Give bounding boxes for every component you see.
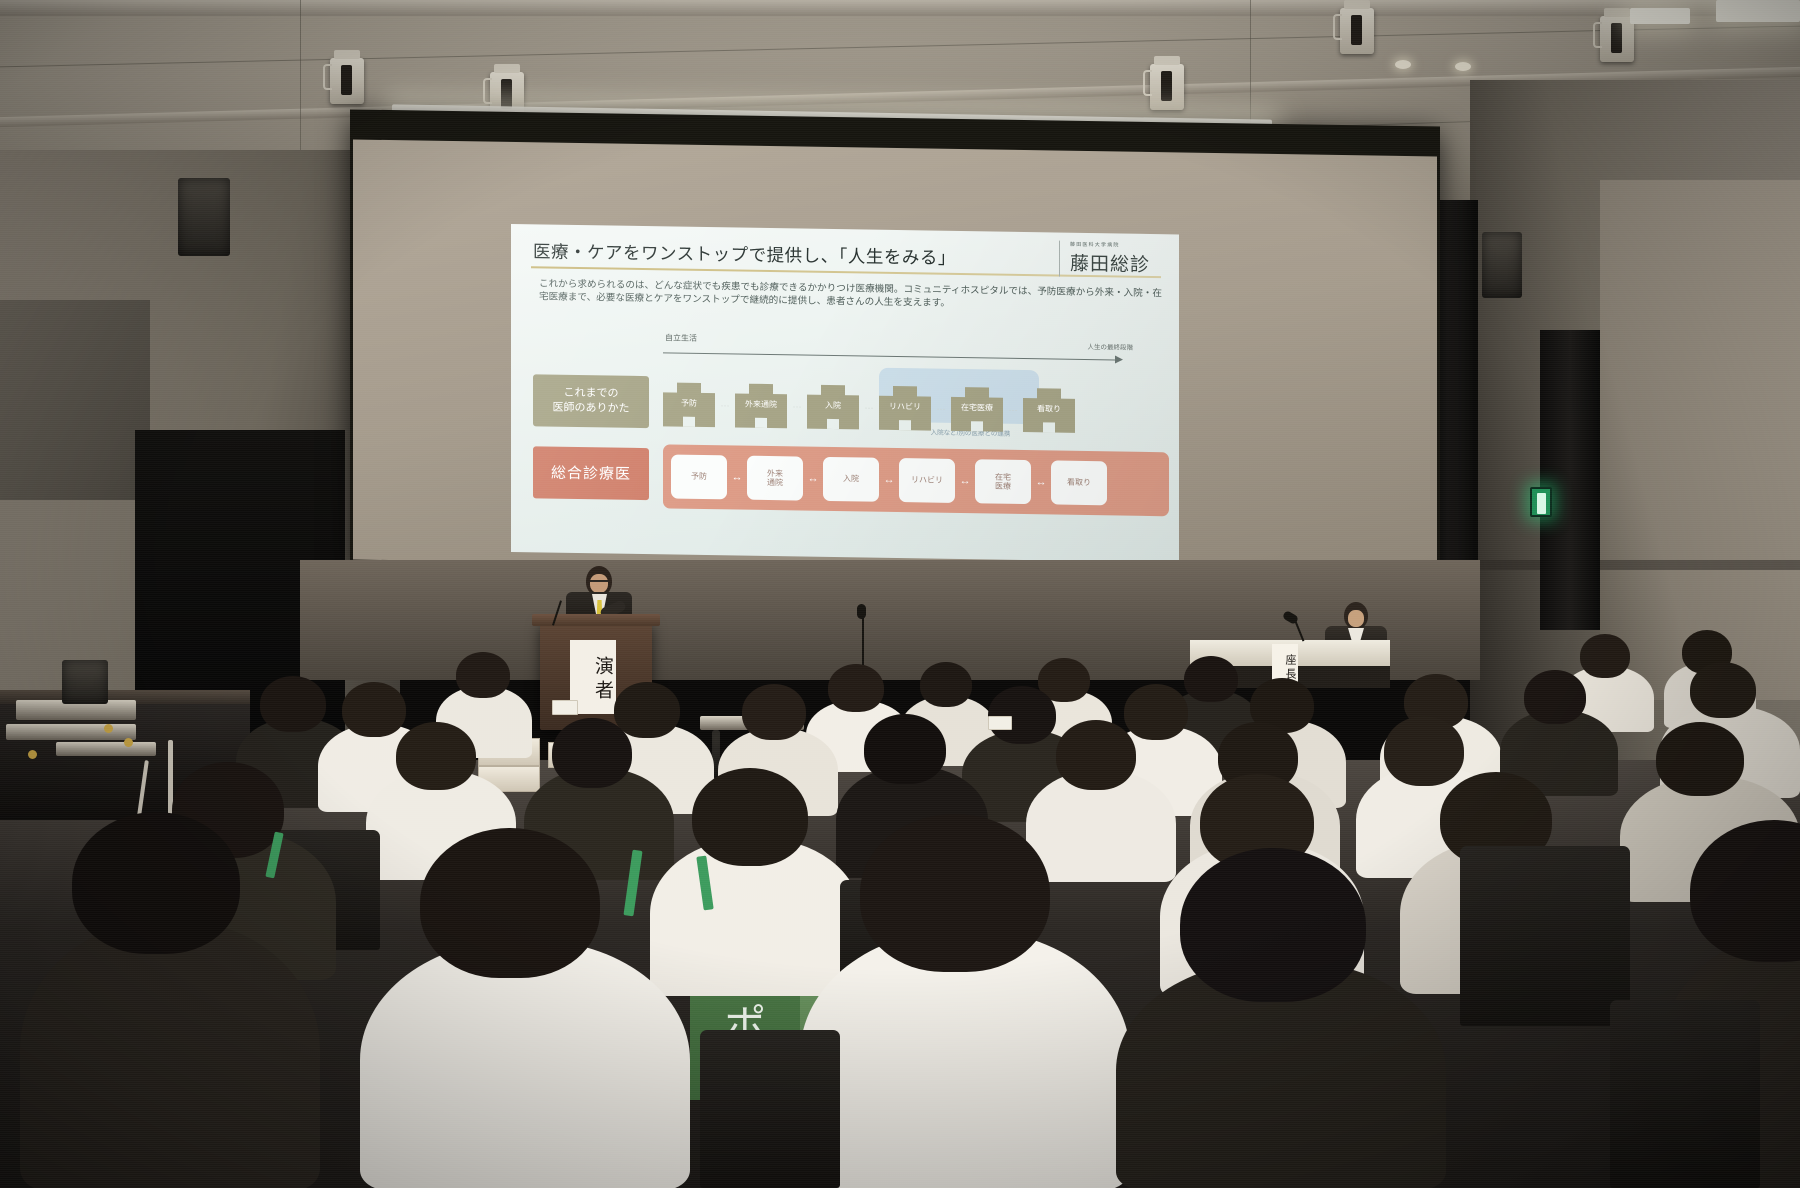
av-rack-unit bbox=[56, 742, 156, 756]
av-knob[interactable] bbox=[124, 738, 133, 747]
audience-head bbox=[1184, 656, 1238, 702]
audience-head bbox=[342, 682, 406, 737]
ceiling-light-panel bbox=[1630, 8, 1690, 24]
chair-back bbox=[700, 1030, 840, 1188]
emergency-exit-sign bbox=[1530, 487, 1552, 517]
audience-head bbox=[692, 768, 808, 866]
monitor-back bbox=[62, 660, 108, 704]
ceiling-light-panel bbox=[1716, 0, 1800, 22]
downlight bbox=[1455, 62, 1471, 71]
audience-head bbox=[456, 652, 510, 698]
presentation-slide: 医療・ケアをワンストップで提供し、「人生をみる」 藤田医科大学病院 藤田総診 こ… bbox=[511, 224, 1179, 562]
audience-head bbox=[1524, 670, 1586, 724]
audience-head bbox=[1580, 634, 1630, 678]
audience-head bbox=[1124, 684, 1188, 740]
conference-hall-photo: 医療・ケアをワンストップで提供し、「人生をみる」 藤田医科大学病院 藤田総診 こ… bbox=[0, 0, 1800, 1188]
name-badge bbox=[552, 700, 578, 715]
audience-head bbox=[828, 664, 884, 712]
speaker-face bbox=[590, 574, 608, 593]
chair-back bbox=[1610, 1000, 1760, 1188]
audience-head bbox=[72, 812, 240, 954]
ceiling-spotlight bbox=[1340, 8, 1374, 54]
ceiling-spotlight bbox=[330, 58, 364, 104]
audience-head bbox=[1180, 848, 1366, 1002]
ceiling-spotlight bbox=[1150, 64, 1184, 110]
audience-head bbox=[742, 684, 806, 740]
stage-label: 予防 bbox=[681, 399, 697, 408]
stage-label: 看取り bbox=[1037, 404, 1061, 413]
audience-head bbox=[552, 718, 632, 788]
wall-speaker bbox=[178, 178, 230, 256]
audience-head bbox=[920, 662, 972, 707]
glasses-icon bbox=[590, 580, 608, 583]
audience-head bbox=[864, 714, 946, 784]
audience-shoulders bbox=[20, 920, 320, 1188]
av-knob[interactable] bbox=[104, 724, 113, 733]
av-rack-unit bbox=[6, 724, 136, 740]
downlight bbox=[1395, 60, 1411, 69]
audience-head bbox=[260, 676, 326, 732]
audience-head bbox=[1656, 722, 1744, 796]
name-badge bbox=[988, 716, 1012, 730]
stage-label: 外来通院 bbox=[745, 400, 777, 410]
audience-head bbox=[614, 682, 680, 738]
left-wall-panel bbox=[0, 300, 150, 500]
audience-head bbox=[1384, 716, 1464, 786]
ceiling-spotlight bbox=[1600, 16, 1634, 62]
chair-back bbox=[1460, 846, 1630, 1026]
screen-glare bbox=[511, 224, 1179, 562]
stage-label: 入院 bbox=[825, 401, 841, 410]
stage-label: 在宅医療 bbox=[961, 403, 993, 413]
audience-head bbox=[420, 828, 600, 978]
audience-head bbox=[988, 686, 1056, 744]
projection-screen: 医療・ケアをワンストップで提供し、「人生をみる」 藤田医科大学病院 藤田総診 こ… bbox=[350, 109, 1440, 586]
audience-head bbox=[1690, 662, 1756, 718]
chairperson-face bbox=[1348, 610, 1364, 627]
audience-head bbox=[860, 814, 1050, 972]
right-wall-panel bbox=[1600, 180, 1800, 700]
microphone bbox=[857, 604, 866, 619]
stage-label: リハビリ bbox=[889, 402, 921, 412]
screen-surface: 医療・ケアをワンストップで提供し、「人生をみる」 藤田医科大学病院 藤田総診 こ… bbox=[353, 139, 1437, 576]
wall-speaker bbox=[1482, 232, 1522, 298]
audience-head bbox=[396, 722, 476, 790]
av-knob[interactable] bbox=[28, 750, 37, 759]
dark-pillar bbox=[1540, 330, 1600, 630]
audience-head bbox=[1056, 720, 1136, 790]
wall-trim bbox=[1470, 560, 1800, 570]
